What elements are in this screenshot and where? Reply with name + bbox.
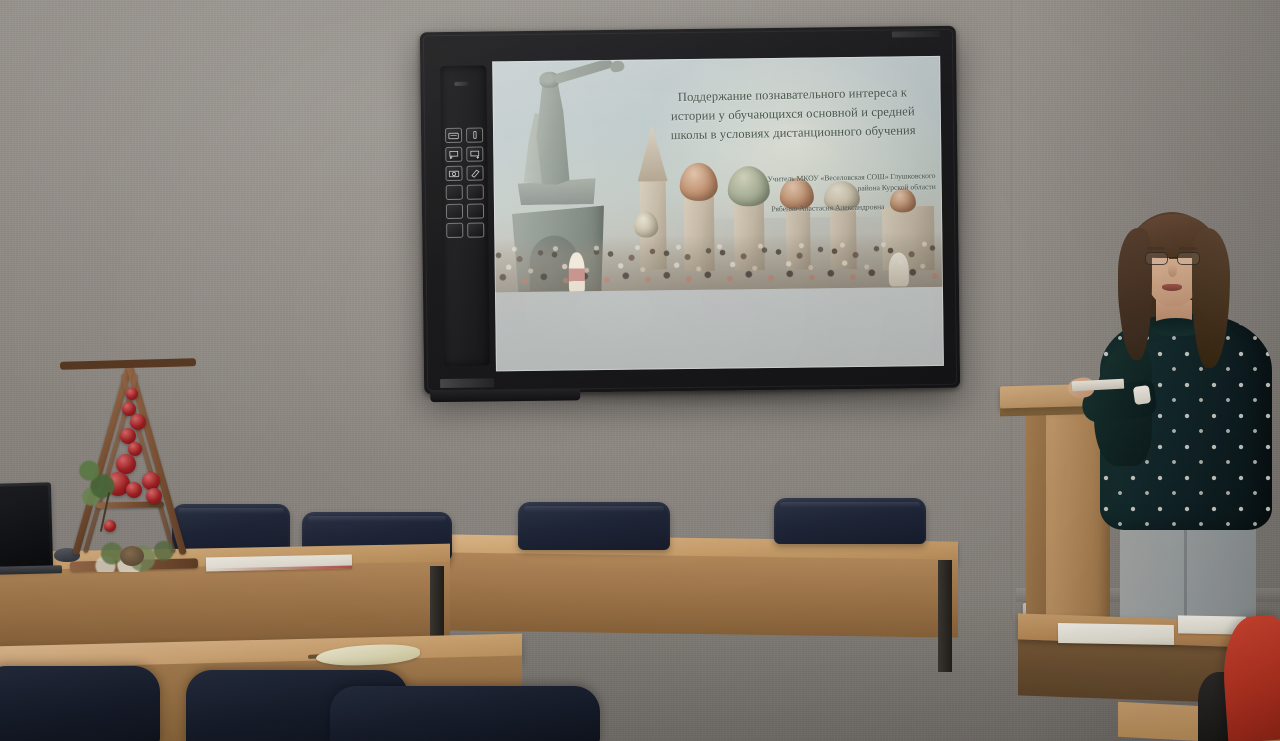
pen-icon[interactable] <box>466 128 483 143</box>
arrow-left-box-icon[interactable] <box>445 147 462 162</box>
blank-icon-3[interactable] <box>446 204 463 219</box>
presenter-wristwatch <box>1133 385 1151 405</box>
slide-subtitle-line-1: Учитель МКОУ «Веселовская СОШ» Глушковск… <box>719 170 935 186</box>
camera-icon[interactable] <box>445 166 462 181</box>
tree-foliage-left <box>76 452 120 514</box>
slide-crowd <box>494 232 943 292</box>
presenter-nose <box>1168 264 1177 277</box>
chair-front-3[interactable] <box>330 686 600 741</box>
monument-figure-drapery <box>523 113 554 185</box>
papers-on-desk-right-1[interactable] <box>1058 623 1174 645</box>
cathedral-spire-center <box>637 125 668 181</box>
blank-icon-1[interactable] <box>446 185 463 200</box>
presenter-mouth <box>1162 284 1182 291</box>
cathedral-tower-center <box>640 177 667 269</box>
monument-pedestal <box>512 200 605 292</box>
chair-back-3[interactable] <box>518 502 670 550</box>
presenter <box>1092 206 1280 666</box>
glasses-bridge <box>1169 257 1178 259</box>
cathedral-tower-5 <box>830 199 857 269</box>
blank-icon-2[interactable] <box>467 185 484 200</box>
monument-figure-hand <box>609 59 625 73</box>
chair-front-1[interactable] <box>0 666 160 741</box>
cathedral-dome-5 <box>824 181 860 211</box>
cathedral-tower-2 <box>684 187 715 271</box>
interactive-whiteboard[interactable]: Поддержание познавательного интереса к и… <box>420 26 960 395</box>
monument-figure-body <box>530 80 575 185</box>
projection-screen[interactable]: Поддержание познавательного интереса к и… <box>492 56 944 371</box>
cathedral-dome-3 <box>727 166 769 207</box>
chair-highlight <box>780 502 920 508</box>
keyboard-icon[interactable] <box>445 128 462 143</box>
cathedral-dome-6 <box>890 188 916 212</box>
desk-back-right-leg <box>938 560 952 672</box>
status-led <box>454 82 468 86</box>
christmas-tree-decoration <box>60 360 220 590</box>
crowd-figure-child <box>569 252 585 292</box>
cathedral-tower-4 <box>786 198 811 270</box>
eraser-icon[interactable] <box>466 166 483 181</box>
whiteboard-brand-plate-top <box>892 31 940 38</box>
slide-subtitle-line-2: района Курской области <box>720 181 936 197</box>
slide-title-line-1: Поддержание познавательного интереса к <box>658 83 926 108</box>
bauble-3 <box>130 414 146 430</box>
presenter-eyebrow-right <box>1179 247 1197 250</box>
slide-background-artwork: Поддержание познавательного интереса к и… <box>492 56 943 292</box>
monument-figure-arm <box>553 58 613 85</box>
laptop[interactable] <box>0 482 53 569</box>
laptop-screen <box>0 485 50 566</box>
cathedral-wall-right <box>882 206 935 271</box>
classroom-photo-scene: Поддержание познавательного интереса к и… <box>0 0 1280 741</box>
slide-title-line-2: истории у обучающихся основной и средней <box>659 102 927 127</box>
laptop-base <box>0 565 62 574</box>
glasses-lens-right <box>1177 252 1200 265</box>
bauble-1 <box>126 388 138 400</box>
side-control-panel[interactable] <box>440 65 490 366</box>
blank-icon-6[interactable] <box>467 223 484 238</box>
whiteboard-brand-plate <box>440 378 494 388</box>
chair-highlight <box>524 506 664 512</box>
pinecone <box>120 546 144 566</box>
slide-sky-glow <box>642 56 943 220</box>
bauble-8 <box>126 482 142 498</box>
cathedral-dome-2 <box>679 163 717 201</box>
blank-icon-4[interactable] <box>467 204 484 219</box>
bauble-10 <box>146 488 162 504</box>
whiteboard-pen-tray[interactable] <box>430 388 580 402</box>
crowd-figures-layer-2 <box>494 232 943 292</box>
cathedral-dome-1 <box>634 211 658 237</box>
slide-title: Поддержание познавательного интереса к и… <box>658 83 927 146</box>
control-button-grid[interactable] <box>445 128 484 238</box>
crowd-figures-layer-1 <box>494 232 943 292</box>
cathedral-dome-4 <box>780 177 814 209</box>
blank-icon-5[interactable] <box>446 223 463 238</box>
slide-title-line-3: школы в условиях дистанционного обучения <box>659 121 927 146</box>
presenter-eyebrow-left <box>1147 247 1165 250</box>
glasses-lens-left <box>1145 252 1168 265</box>
desk-back-right-front <box>444 552 958 637</box>
slide-author: Рябенко Анастасия Александровна <box>720 201 936 215</box>
chair-back-4[interactable] <box>774 498 926 544</box>
slide-subtitle: Учитель МКОУ «Веселовская СОШ» Глушковск… <box>719 170 935 197</box>
monument-figure-head <box>539 72 559 88</box>
chair-highlight <box>308 516 446 522</box>
cathedral-tower-3 <box>734 192 765 270</box>
slide-lower-blank-area <box>495 287 944 371</box>
crowd-figure-white <box>889 252 909 286</box>
monument-plinth <box>518 178 596 205</box>
wall-seam <box>1011 0 1014 620</box>
arrow-right-box-icon[interactable] <box>466 147 483 162</box>
